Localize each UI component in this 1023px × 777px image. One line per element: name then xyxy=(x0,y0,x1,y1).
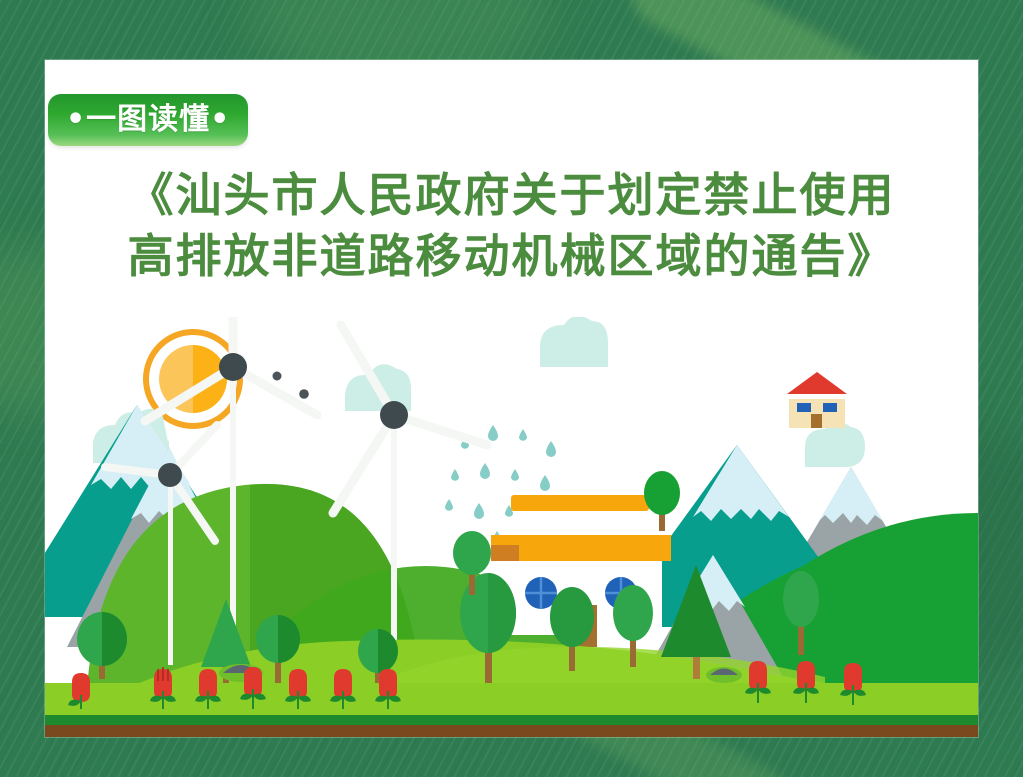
bush-icon-2 xyxy=(706,667,742,683)
grass-strip-dark xyxy=(45,715,978,725)
page-title: 《汕头市人民政府关于划定禁止使用 高排放非道路移动机械区域的通告》 xyxy=(45,165,978,286)
content-card: •一图读懂• 《汕头市人民政府关于划定禁止使用 高排放非道路移动机械区域的通告》 xyxy=(45,60,978,737)
read-in-one-picture-badge[interactable]: •一图读懂• xyxy=(48,94,248,146)
soil-strip xyxy=(45,725,978,737)
page-title-line-2: 高排放非道路移动机械区域的通告》 xyxy=(75,226,948,287)
page-title-line-1: 《汕头市人民政府关于划定禁止使用 xyxy=(75,165,948,226)
page-root: •一图读懂• 《汕头市人民政府关于划定禁止使用 高排放非道路移动机械区域的通告》 xyxy=(0,0,1023,777)
eco-landscape-illustration xyxy=(45,317,978,737)
badge-label: •一图读懂• xyxy=(66,105,230,135)
